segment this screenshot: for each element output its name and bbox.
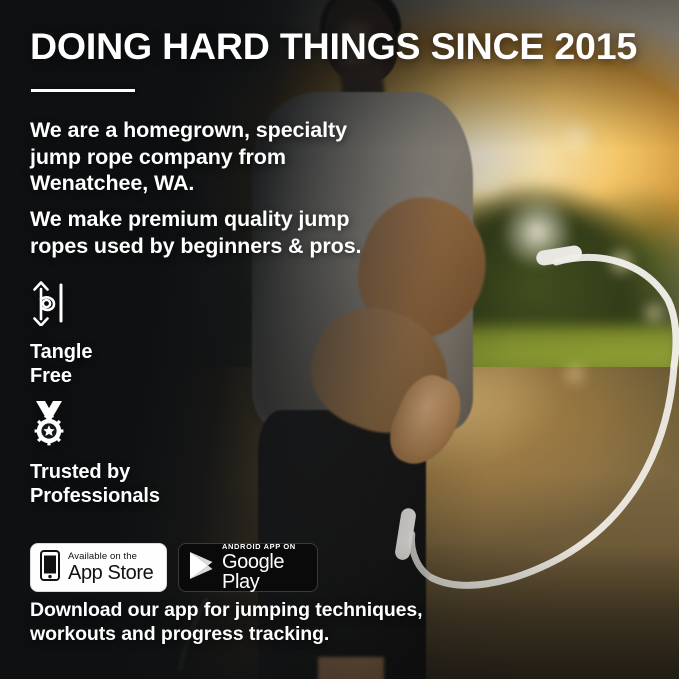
app-store-badge[interactable]: Available on the App Store: [30, 543, 167, 592]
google-play-big-label: Google Play: [222, 552, 308, 592]
download-cta-text: Download our app for jumping techniques,…: [30, 598, 460, 646]
google-play-text: ANDROID APP ON Google Play: [222, 543, 308, 593]
intro-paragraph: We are a homegrown, specialty jump rope …: [30, 117, 380, 197]
medal-icon: [30, 400, 160, 451]
content-layer: DOING HARD THINGS SINCE 2015 We are a ho…: [0, 0, 679, 679]
google-play-small-label: ANDROID APP ON: [222, 543, 308, 551]
tangle-free-icon: [30, 280, 92, 331]
app-store-small-label: Available on the: [68, 552, 153, 562]
app-store-big-label: App Store: [68, 563, 153, 583]
feature-trusted-label: Trusted by Professionals: [30, 460, 160, 508]
app-store-text: Available on the App Store: [68, 552, 153, 584]
app-store-badges: Available on the App Store ANDROID APP O…: [30, 543, 318, 592]
google-play-badge[interactable]: ANDROID APP ON Google Play: [178, 543, 318, 592]
title-divider: [31, 89, 135, 92]
product-paragraph: We make premium quality jump ropes used …: [30, 206, 380, 259]
page-title: DOING HARD THINGS SINCE 2015: [30, 27, 650, 67]
feature-trusted-by-professionals: Trusted by Professionals: [30, 400, 160, 508]
google-play-triangle-icon: [188, 551, 214, 585]
promo-poster: DOING HARD THINGS SINCE 2015 We are a ho…: [0, 0, 679, 679]
feature-tangle-free-label: Tangle Free: [30, 340, 92, 388]
feature-tangle-free: Tangle Free: [30, 280, 92, 388]
apple-iphone-icon: [40, 550, 60, 586]
